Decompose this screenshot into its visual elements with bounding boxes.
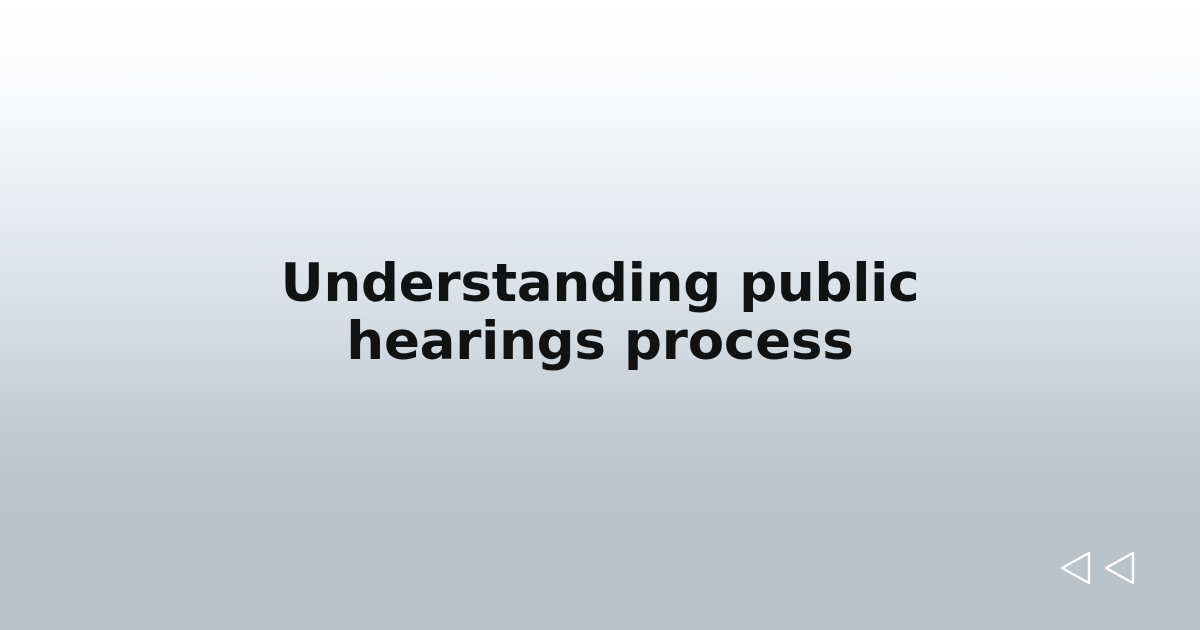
social-card: Understanding public hearings process — [0, 0, 1200, 630]
pager-controls[interactable] — [1058, 550, 1136, 586]
page-title: Understanding public hearings process — [200, 255, 1000, 375]
previous-triangle-icon[interactable] — [1058, 550, 1092, 586]
previous-triangle-icon-secondary[interactable] — [1102, 550, 1136, 586]
title-container: Understanding public hearings process — [0, 0, 1200, 630]
